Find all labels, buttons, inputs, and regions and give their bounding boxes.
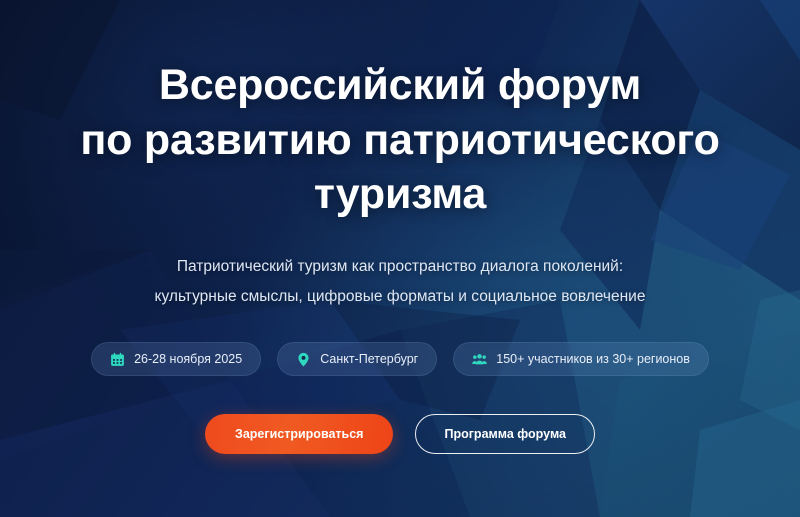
map-pin-icon	[296, 352, 311, 367]
chip-participants: 150+ участников из 30+ регионов	[453, 342, 709, 376]
chip-date: 26-28 ноября 2025	[91, 342, 261, 376]
chip-date-label: 26-28 ноября 2025	[134, 352, 242, 366]
hero-actions: Зарегистрироваться Программа форума	[205, 414, 595, 454]
title-line-1: Всероссийский форум	[80, 58, 719, 113]
chip-location: Санкт-Петербург	[277, 342, 437, 376]
page-subtitle: Патриотический туризм как пространство д…	[155, 252, 646, 312]
info-chips: 26-28 ноября 2025 Санкт-Петербург	[91, 342, 709, 376]
users-group-icon	[472, 352, 487, 367]
program-button[interactable]: Программа форума	[415, 414, 595, 454]
hero-content: Всероссийский форум по развитию патриоти…	[0, 0, 800, 517]
subtitle-line-1: Патриотический туризм как пространство д…	[155, 252, 646, 282]
title-line-2: по развитию патриотического	[80, 113, 719, 168]
page-title: Всероссийский форум по развитию патриоти…	[80, 58, 719, 222]
register-button[interactable]: Зарегистрироваться	[205, 414, 393, 454]
subtitle-line-2: культурные смыслы, цифровые форматы и со…	[155, 282, 646, 312]
title-line-3: туризма	[80, 167, 719, 222]
chip-location-label: Санкт-Петербург	[320, 352, 418, 366]
hero-banner: Всероссийский форум по развитию патриоти…	[0, 0, 800, 517]
chip-participants-label: 150+ участников из 30+ регионов	[496, 352, 690, 366]
calendar-icon	[110, 352, 125, 367]
